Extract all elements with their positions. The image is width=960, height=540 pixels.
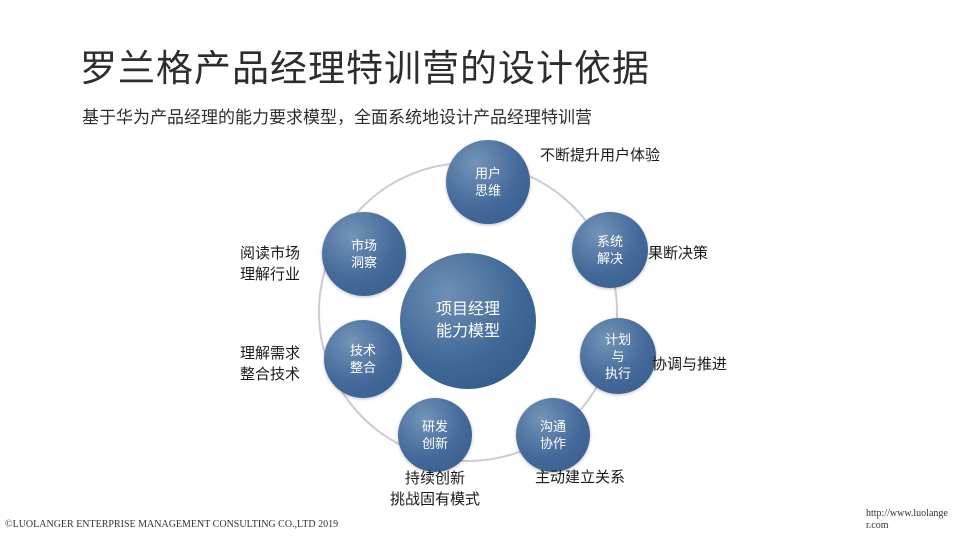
node-label-1: 用户 [475,165,501,182]
footer-copyright: ©LUOLANGER ENTERPRISE MANAGEMENT CONSULT… [5,519,338,530]
annot-decisive: 果断决策 [648,243,708,264]
node-label-1: 技术 [350,342,376,359]
annotation-line: 整合技术 [240,364,300,385]
node-label-1: 沟通 [540,418,566,435]
center-label-line2: 能力模型 [436,321,500,343]
annotation-line: 协调与推进 [652,354,727,375]
annotation-line: 主动建立关系 [535,467,625,488]
annotation-line: 理解行业 [240,264,300,285]
node-label-2: 整合 [350,359,376,376]
node-label-1: 市场 [351,237,377,254]
annot-read-market: 阅读市场理解行业 [240,243,300,285]
node-user-thinking: 用户思维 [446,140,530,224]
node-plan-execute: 计划与执行 [580,318,656,394]
node-label-3: 执行 [605,365,631,382]
node-tech-integration: 技术整合 [324,320,402,398]
node-label-2: 思维 [475,182,501,199]
slide-canvas: 罗兰格产品经理特训营的设计依据 基于华为产品经理的能力要求模型，全面系统地设计产… [0,0,960,540]
annotation-line: 阅读市场 [240,243,300,264]
annotation-line: 果断决策 [648,243,708,264]
annot-innovation: 持续创新挑战固有模式 [390,468,480,510]
node-label-2: 洞察 [351,254,377,271]
annot-user-experience: 不断提升用户体验 [540,145,660,166]
node-system-solving: 系统解决 [572,212,648,288]
annot-coordinate: 协调与推进 [652,354,727,375]
annot-understand-demand: 理解需求整合技术 [240,343,300,385]
node-label-2: 创新 [422,435,448,452]
page-title: 罗兰格产品经理特训营的设计依据 [80,38,650,92]
node-label-1: 计划 [605,331,631,348]
node-rd-innovation: 研发创新 [398,398,472,472]
node-communication: 沟通协作 [516,398,590,472]
node-label-2: 解决 [597,250,623,267]
center-label-line1: 项目经理 [436,299,500,321]
annotation-line: 持续创新 [390,468,480,489]
annotation-line: 不断提升用户体验 [540,145,660,166]
annotation-line: 挑战固有模式 [390,489,480,510]
page-subtitle: 基于华为产品经理的能力要求模型，全面系统地设计产品经理特训营 [82,103,592,128]
footer-url: http://www.luolanger.com [866,508,952,532]
annot-relationship: 主动建立关系 [535,467,625,488]
node-label-2: 协作 [540,435,566,452]
node-label-1: 研发 [422,418,448,435]
node-market-insight: 市场洞察 [322,212,406,296]
node-label-2: 与 [611,348,624,365]
annotation-line: 理解需求 [240,343,300,364]
center-model-bubble: 项目经理 能力模型 [400,253,536,389]
node-label-1: 系统 [597,233,623,250]
